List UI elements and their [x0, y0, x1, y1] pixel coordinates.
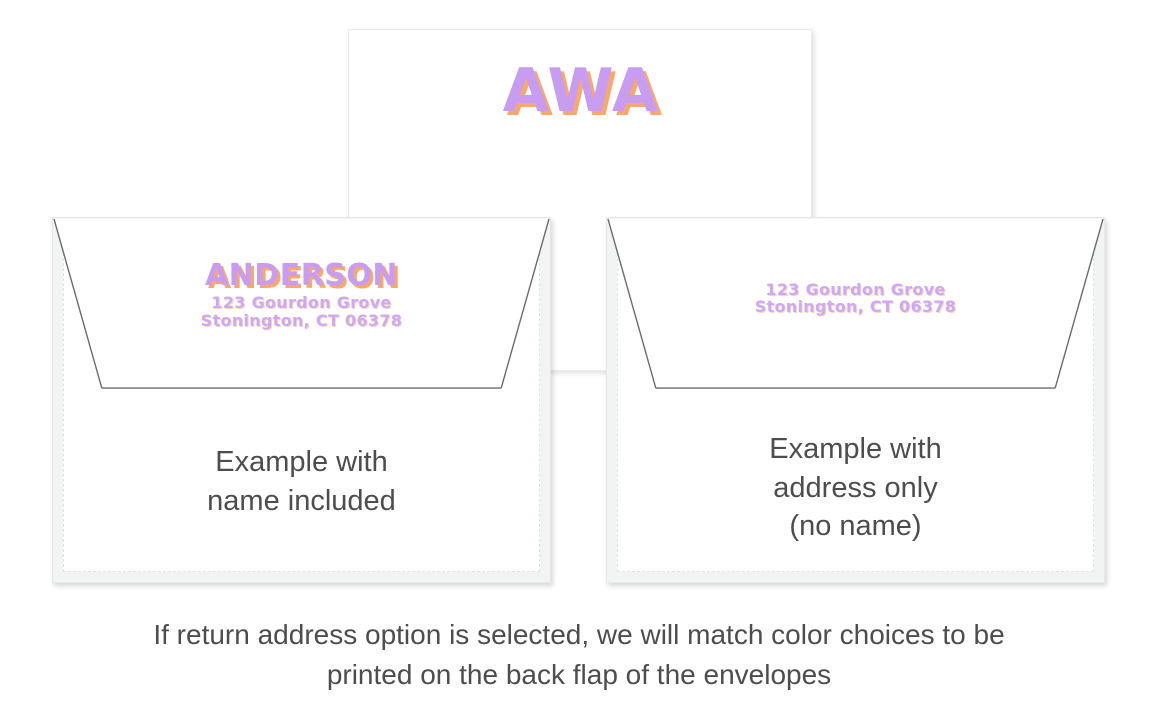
return-address-block: 123 Gourdon Grove Stonington, CT 06378 [607, 281, 1104, 316]
monogram-text: AWA [349, 61, 813, 121]
envelope-caption: Example with name included [53, 443, 550, 520]
return-address-block: ANDERSON 123 Gourdon Grove Stonington, C… [53, 260, 550, 329]
return-address-city-state-zip: Stonington, CT 06378 [607, 298, 1104, 315]
illustration-stage: AWA ANDERSON 123 Gourdon Grove Stoningto… [0, 0, 1158, 728]
footer-note: If return address option is selected, we… [0, 615, 1158, 695]
return-address-name: ANDERSON [53, 260, 550, 292]
return-address-city-state-zip: Stonington, CT 06378 [53, 312, 550, 329]
return-address-street: 123 Gourdon Grove [53, 294, 550, 311]
envelope-with-name: ANDERSON 123 Gourdon Grove Stonington, C… [52, 217, 551, 583]
envelope-caption: Example with address only (no name) [607, 430, 1104, 546]
envelope-address-only: 123 Gourdon Grove Stonington, CT 06378 E… [606, 217, 1105, 583]
return-address-street: 123 Gourdon Grove [607, 281, 1104, 298]
